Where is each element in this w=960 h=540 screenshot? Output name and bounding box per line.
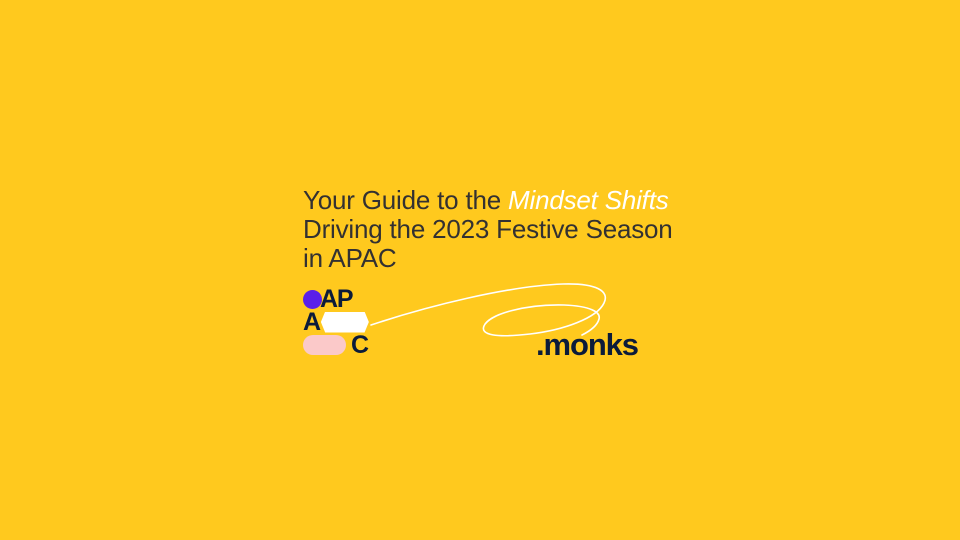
headline-line2: Driving the 2023 Festive Season [303,214,673,244]
white-hexagon-icon [321,312,369,333]
monks-wordmark: .monks [536,329,638,360]
headline-emphasis: Mindset Shifts [508,185,669,215]
apac-logo-row-2: A [303,311,369,333]
pink-pill-icon [303,335,346,355]
apac-letters-ap: AP [320,288,352,310]
apac-letters-c: C [351,334,368,356]
presentation-slide: Your Guide to the Mindset Shifts Driving… [0,0,960,540]
slide-headline: Your Guide to the Mindset Shifts Driving… [303,186,683,273]
headline-line1-prefix: Your Guide to the [303,185,508,215]
apac-logo-row-3: C [303,334,368,356]
apac-letters-a: A [303,311,320,333]
apac-logo-row-1: AP [303,288,352,310]
apac-logo: AP A C [303,288,378,356]
headline-line3: in APAC [303,243,397,273]
